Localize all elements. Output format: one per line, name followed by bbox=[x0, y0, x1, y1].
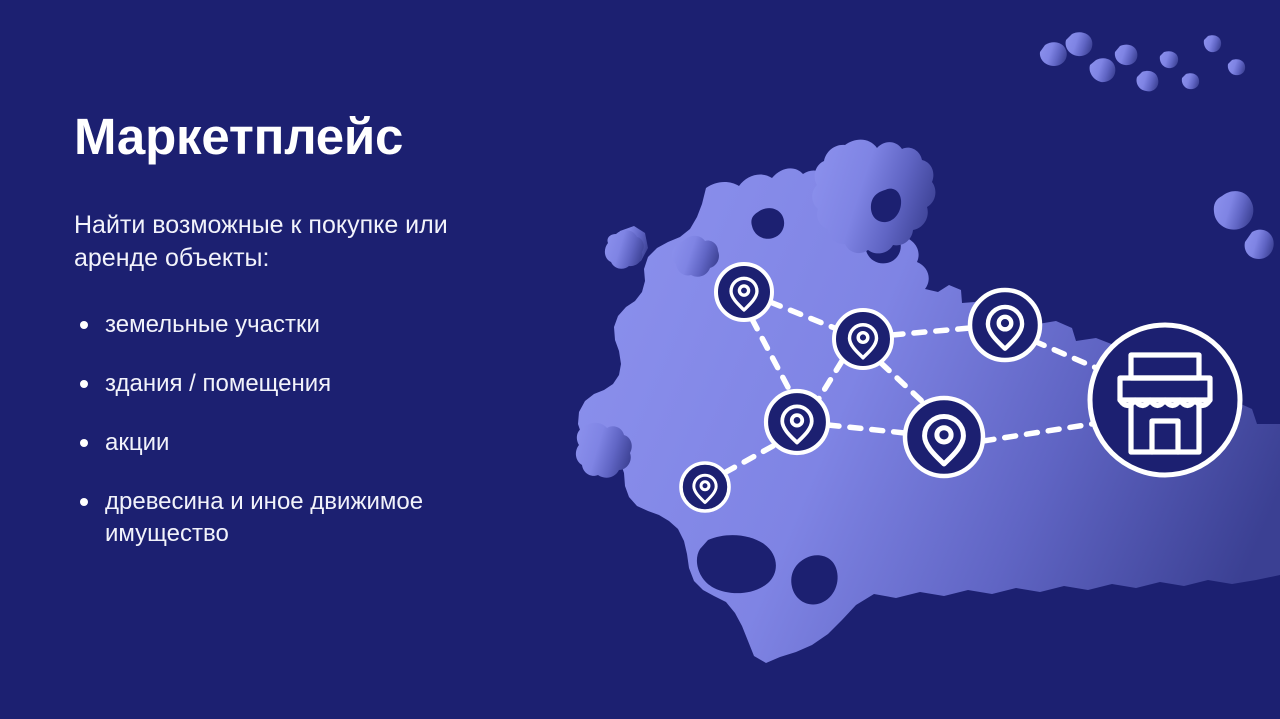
bullet-dot-icon bbox=[80, 439, 88, 447]
map-pin-node-2[interactable] bbox=[834, 310, 892, 368]
object-type-list: земельные участки здания / помещения акц… bbox=[74, 309, 544, 550]
marketplace-shop-node[interactable] bbox=[1090, 325, 1240, 475]
bullet-dot-icon bbox=[80, 321, 88, 329]
slide-root: Маркетплейс Найти возможные к покупке ил… bbox=[0, 0, 1280, 719]
map-pin-node-1[interactable] bbox=[716, 264, 772, 320]
bullet-dot-icon bbox=[80, 380, 88, 388]
text-column: Маркетплейс Найти возможные к покупке ил… bbox=[74, 108, 544, 550]
bullet-dot-icon bbox=[80, 498, 88, 506]
page-title: Маркетплейс bbox=[74, 108, 544, 165]
map-pin-node-6[interactable] bbox=[681, 463, 729, 511]
list-item-label: акции bbox=[105, 429, 169, 456]
list-item-label: здания / помещения bbox=[105, 370, 331, 397]
subtitle-text: Найти возможные к покупке или аренде объ… bbox=[74, 209, 504, 275]
map-pin-node-5[interactable] bbox=[905, 398, 983, 476]
map-pin-node-4[interactable] bbox=[766, 391, 828, 453]
list-item: земельные участки bbox=[74, 309, 544, 341]
list-item: здания / помещения bbox=[74, 368, 544, 400]
list-item: акции bbox=[74, 427, 544, 459]
list-item-label: земельные участки bbox=[105, 311, 320, 338]
map-pin-node-3[interactable] bbox=[970, 290, 1040, 360]
list-item-label: древесина и иное движимое имущество bbox=[105, 488, 423, 547]
list-item: древесина и иное движимое имущество bbox=[74, 486, 544, 550]
